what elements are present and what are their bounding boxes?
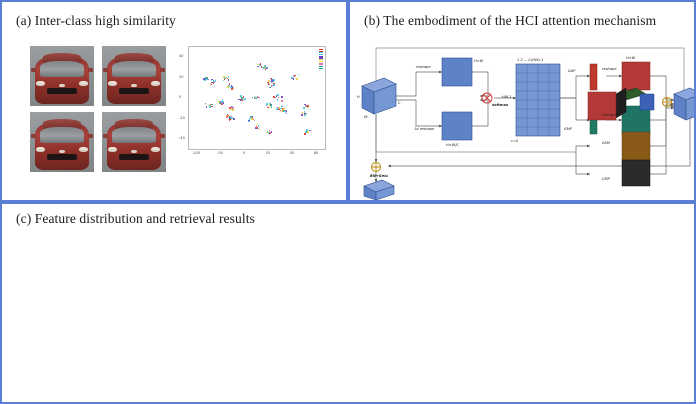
label-cmp: CMP: [602, 177, 611, 181]
plot-a-point: [228, 76, 230, 78]
plot-a-point: [238, 99, 240, 101]
label-sam: SAM: [602, 141, 610, 145]
plot-a-point: [226, 77, 228, 79]
plot-a-xtick: 25: [266, 151, 271, 155]
plot-a-point: [233, 118, 235, 120]
plot-a-point: [251, 118, 253, 120]
plot-a-point: [270, 104, 272, 106]
plot-a-ytick: 0: [179, 95, 181, 99]
car-sample-2: [102, 46, 166, 106]
panel-b-title: (b) The embodiment of the HCI attention …: [364, 13, 656, 29]
plot-a-point: [281, 96, 283, 98]
label-input-w: W: [364, 115, 368, 119]
plot-a-ytick: 40: [179, 54, 184, 58]
plot-a-point: [309, 130, 311, 132]
plot-a-point: [303, 107, 305, 109]
plot-a-point: [232, 109, 234, 111]
plot-a-xtick: 0: [243, 151, 245, 155]
plot-a-point: [241, 97, 243, 99]
diagram-multiply-node: [482, 93, 492, 103]
plot-a-point: [232, 107, 234, 109]
plot-a-point: [233, 87, 235, 89]
diagram-sum-node-bottom: [372, 163, 381, 172]
plot-a-point: [250, 116, 252, 118]
panel-a-tsne-scatter: -100-50025508040200-20-40: [188, 46, 326, 150]
plot-a-point: [209, 107, 211, 109]
plot-a-point: [307, 131, 309, 133]
plot-a-ytick: 20: [179, 75, 184, 79]
plot-a-point: [226, 116, 228, 118]
plot-a-point: [229, 116, 231, 118]
plot-a-point: [296, 78, 298, 80]
plot-a-point: [213, 80, 215, 82]
hci-attention-diagram: H W C reshape 1d reshape H×W H×W/C softm…: [354, 34, 694, 200]
plot-a-point: [292, 78, 294, 80]
label-hw-c: H×W/C: [446, 143, 459, 147]
plot-a-legend: [319, 49, 323, 69]
plot-a-point: [229, 119, 231, 121]
panel-a: (a) Inter-class high similarity: [0, 0, 348, 202]
diagram-matrix: [516, 64, 560, 136]
plot-a-point: [268, 80, 270, 82]
label-gmp: GMP: [564, 127, 573, 131]
figure-container: (a) Inter-class high similarity: [0, 0, 696, 404]
plot-a-point: [281, 100, 283, 102]
plot-a-point: [227, 86, 229, 88]
panel-a-sample-grid: [30, 46, 166, 172]
diagram-sum-node-right: [663, 98, 672, 107]
plot-a-xtick: -100: [192, 151, 200, 155]
plot-a-point: [223, 76, 225, 78]
car-sample-4: [102, 112, 166, 172]
label-matrix-side: HW-1: [502, 95, 512, 99]
plot-a-point: [223, 102, 225, 104]
diagram-bottom-cube: [364, 180, 394, 200]
plot-a-point: [221, 103, 223, 105]
plot-a-xtick: 50: [290, 151, 295, 155]
label-reshape1: reshape: [416, 65, 431, 69]
panel-a-title: (a) Inter-class high similarity: [16, 13, 176, 29]
plot-a-point: [257, 66, 259, 68]
label-out-hw: H×W: [626, 56, 636, 60]
plot-a-point: [277, 94, 279, 96]
panel-c-title: (c) Feature distribution and retrieval r…: [16, 211, 255, 227]
plot-a-ytick: -20: [179, 116, 185, 120]
plot-a-point: [273, 84, 275, 86]
label-reshape3: reshape: [602, 67, 617, 71]
plot-a-point: [256, 126, 258, 128]
label-input-c: C: [398, 101, 401, 105]
label-hw-1: H×W: [474, 59, 484, 63]
label-gap: GAP: [568, 69, 576, 73]
plot-a-point: [244, 98, 246, 100]
diagram-input-cube: [362, 78, 396, 114]
plot-a-point: [304, 133, 306, 135]
plot-a-point: [266, 132, 268, 134]
plot-a-xtick: 80: [314, 151, 319, 155]
label-softmax: softmax: [492, 103, 509, 107]
label-fc: FC: [630, 89, 635, 93]
label-reshape4: reshape: [602, 113, 617, 117]
plot-a-point: [205, 77, 207, 79]
plot-a-point: [230, 116, 232, 118]
plot-a-ytick: -40: [179, 136, 185, 140]
plot-a-point: [278, 108, 280, 110]
diagram-output-cube: [674, 88, 694, 120]
car-sample-3: [30, 112, 94, 172]
plot-a-point: [298, 74, 300, 76]
plot-a-point: [228, 79, 230, 81]
plot-a-point: [211, 106, 213, 108]
plot-a-point: [281, 106, 283, 108]
plot-a-point: [304, 114, 306, 116]
plot-a-point: [257, 64, 259, 66]
label-input: H: [357, 95, 360, 99]
label-reshape2: 1d reshape: [414, 127, 435, 131]
plot-a-point: [254, 120, 256, 122]
car-sample-1: [30, 46, 94, 106]
plot-a-point: [248, 120, 250, 122]
plot-a-point: [271, 81, 273, 83]
panel-c: (c) Feature distribution and retrieval r…: [0, 202, 696, 404]
plot-a-point: [240, 99, 242, 101]
label-matrix-top: 1 2 ... C(HW)-1: [517, 58, 544, 62]
label-bn-gelu: BN+Gelu: [370, 174, 388, 178]
plot-a-legend-swatch: [319, 68, 323, 69]
label-matrix-zero: c=0: [511, 139, 519, 143]
panel-b: (b) The embodiment of the HCI attention …: [348, 0, 696, 202]
plot-a-xtick: -50: [217, 151, 223, 155]
